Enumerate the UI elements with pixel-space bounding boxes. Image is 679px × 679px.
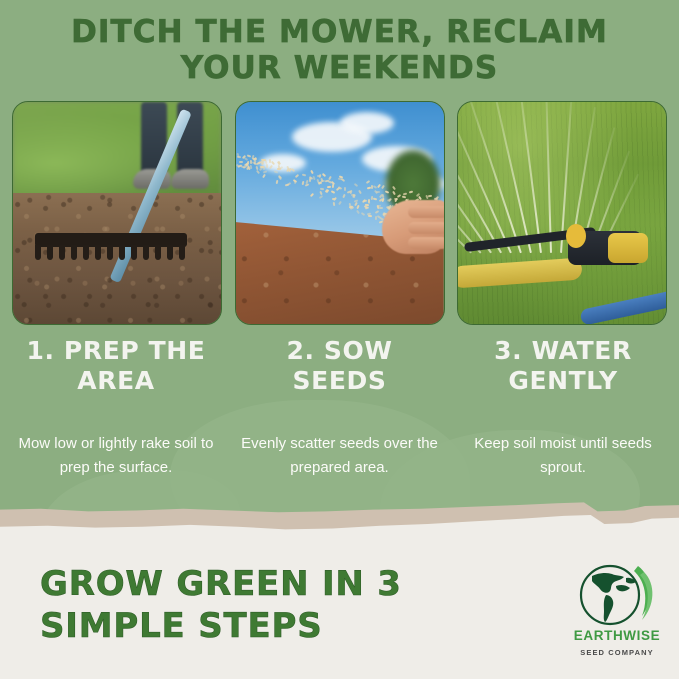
footer-headline-line-2: Simple Steps: [40, 605, 560, 647]
seed-particle: [310, 169, 314, 173]
footer-headline-line-1: Grow Green in 3: [40, 564, 402, 604]
logo-wordmark: EARTHWISE: [568, 628, 666, 643]
seed-particle: [262, 170, 266, 173]
rake-tine: [71, 245, 77, 260]
step-title-2: 2. Sow Seeds: [236, 336, 444, 396]
seed-particle: [238, 161, 242, 163]
seed-particle: [269, 165, 273, 169]
seed-particle: [262, 174, 266, 178]
seed-particle: [264, 159, 267, 163]
seed-particle: [266, 164, 268, 168]
seed-particle: [361, 212, 365, 216]
seed-particle: [428, 195, 432, 198]
footer-headline: Grow Green in 3 Simple Steps: [40, 563, 560, 647]
seed-particle: [385, 190, 389, 193]
seed-particle: [338, 201, 342, 205]
earthwise-logo: EARTHWISE SEED COMPANY: [568, 562, 666, 670]
seed-particle: [295, 174, 299, 178]
seed-particle: [333, 202, 336, 206]
seed-particle: [310, 193, 314, 197]
seed-particle: [367, 186, 371, 189]
water-jet: [518, 101, 542, 253]
seed-particle: [263, 166, 265, 170]
seed-particle: [275, 179, 278, 183]
seed-particle: [319, 195, 323, 199]
rake-tine: [155, 245, 161, 260]
rake-tine: [119, 245, 125, 260]
seed-particle: [301, 173, 305, 176]
hand: [382, 200, 445, 254]
rake-tine: [83, 245, 89, 260]
main-headline: Ditch the Mower, Reclaim Your Weekends: [0, 14, 679, 86]
seed-particle: [365, 204, 369, 206]
rake-tine: [143, 245, 149, 260]
seed-particle: [409, 190, 413, 193]
seed-particle: [371, 196, 374, 200]
rake-tine: [47, 245, 53, 260]
seed-particle: [394, 198, 397, 202]
rake-tine: [131, 245, 137, 260]
seed-particle: [343, 193, 347, 197]
seed-particle: [274, 171, 278, 174]
photo-prep-the-area: [12, 101, 222, 325]
step-title-1: 1. Prep the Area: [12, 336, 220, 396]
finger: [408, 222, 445, 234]
headline-line-1: Ditch the Mower, Reclaim: [71, 14, 608, 50]
rake-tine: [107, 245, 113, 260]
logo-tagline: SEED COMPANY: [568, 648, 666, 657]
infographic-poster: Ditch the Mower, Reclaim Your Weekends: [0, 0, 679, 679]
rake-tine: [167, 245, 173, 260]
rake-tine: [95, 245, 101, 260]
step-descriptions-row: Mow low or lightly rake soil to prep the…: [12, 432, 667, 480]
rake-tines: [35, 245, 187, 260]
seed-particle: [332, 184, 334, 188]
photo-water-gently: [457, 101, 667, 325]
seed-particle: [376, 190, 380, 192]
seed-particle: [330, 190, 334, 193]
seed-particle: [381, 185, 385, 189]
seed-particle: [373, 198, 377, 201]
seed-particle: [366, 180, 370, 184]
step-description-2: Evenly scatter seeds over the prepared a…: [236, 432, 444, 480]
seed-particle: [318, 181, 322, 185]
rake-tine: [59, 245, 65, 260]
seed-particle: [313, 176, 316, 180]
shoe: [171, 169, 209, 189]
seed-particle: [305, 183, 309, 186]
globe-leaf-icon: [576, 562, 658, 628]
water-jet: [457, 104, 512, 253]
seed-particle: [319, 191, 323, 195]
seed-particle: [382, 198, 385, 202]
seed-particle: [277, 165, 280, 169]
step-description-3: Keep soil moist until seeds sprout.: [459, 432, 667, 480]
seed-particle: [354, 183, 358, 187]
seed-particle: [374, 210, 378, 214]
seed-particle: [351, 194, 355, 196]
seed-particle: [344, 187, 346, 191]
seed-particle: [376, 205, 379, 209]
headline-line-2: Your Weekends: [0, 50, 679, 86]
step-title-3: 3. Water Gently: [459, 336, 667, 396]
rake-tine: [179, 245, 185, 260]
seed-particle: [237, 155, 241, 157]
photo-sow-seeds: [235, 101, 445, 325]
cloud: [340, 112, 394, 134]
seed-particle: [269, 159, 271, 163]
step-titles-row: 1. Prep the Area 2. Sow Seeds 3. Water G…: [12, 336, 667, 396]
step-description-1: Mow low or lightly rake soil to prep the…: [12, 432, 220, 480]
sprinkler-cap: [608, 233, 648, 263]
step-photo-row: [12, 101, 667, 323]
seed-particle: [285, 184, 289, 187]
seed-particle: [357, 210, 361, 214]
seed-particle: [379, 207, 383, 209]
water-jet: [545, 101, 552, 253]
seed-particle: [254, 163, 258, 166]
rake-tine: [35, 245, 41, 260]
finger: [408, 206, 445, 218]
seed-particle: [392, 190, 396, 194]
seed-particle: [252, 157, 256, 159]
seed-particle: [321, 172, 325, 176]
finger: [408, 237, 445, 249]
sprinkler-knob: [566, 224, 586, 248]
seed-particle: [358, 190, 362, 194]
